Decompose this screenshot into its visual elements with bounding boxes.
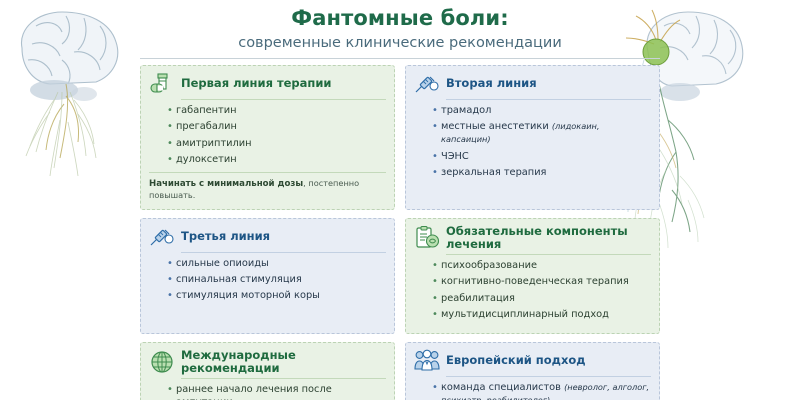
card-item-list: психообразованиекогнитивно-поведенческая… [432,260,651,322]
card-title: Европейский подход [446,354,586,367]
card-item-list: сильные опиоидыспинальная стимуляциястим… [167,258,386,304]
list-item-label: психообразование [441,260,537,271]
card-header: Первая линия терапии [149,72,386,99]
card-title: Международные рекомендации [181,349,386,375]
card-header: Европейский подход [414,349,651,376]
list-item-label: когнитивно-поведенческая терапия [441,276,629,287]
card-header: Международные рекомендации [149,349,386,378]
list-item: прегабалин [167,121,386,134]
list-item: сильные опиоиды [167,258,386,271]
list-item: когнитивно-поведенческая терапия [432,276,651,289]
list-item: реабилитация [432,293,651,306]
card-title: Обязательные компоненты лечения [446,225,651,251]
globe-icon [149,350,175,374]
list-item: габапентин [167,105,386,118]
list-item-label: трамадол [441,105,491,116]
list-item-label: прегабалин [176,121,237,132]
card-first-line-therapy: Первая линия терапиигабапентинпрегабалин… [140,65,395,210]
card-item-list: раннее начало лечения после ампутацииком… [167,384,386,400]
list-item-label: дулоксетин [176,154,237,165]
card-header: Вторая линия [414,72,651,99]
list-item-label: сильные опиоиды [176,258,269,269]
list-item: трамадол [432,105,651,118]
card-header: Обязательные компоненты лечения [414,225,651,254]
card-item-list: трамадолместные анестетики (лидокаин, ка… [432,105,651,180]
card-third-line: Третья линиясильные опиоидыспинальная ст… [140,218,395,334]
card-item-list: команда специалистов (невролог, алголог,… [432,382,651,400]
card-item-list: габапентинпрегабалинамитриптилиндулоксет… [167,105,386,167]
list-item-label: спинальная стимуляция [176,274,302,285]
list-item: спинальная стимуляция [167,274,386,287]
clipboard-brain-icon [414,226,440,250]
list-item: психообразование [432,260,651,273]
card-title-divider [181,378,386,379]
list-item-label: реабилитация [441,293,515,304]
list-item: местные анестетики (лидокаин, капсаицин) [432,121,651,147]
page-title: Фантомные боли: [0,7,800,31]
list-item-label: габапентин [176,105,237,116]
card-european-approach: Европейский подходкоманда специалистов (… [405,342,660,400]
card-footnote-emphasis: Начинать с минимальной дозы [149,179,303,189]
list-item-label: ЧЭНС [441,151,469,162]
card-mandatory-treatment-components: Обязательные компоненты леченияпсихообра… [405,218,660,334]
card-title: Третья линия [181,230,270,243]
recommendation-card-grid: Первая линия терапиигабапентинпрегабалин… [140,65,660,400]
card-title-divider [446,376,651,377]
card-footnote: Начинать с минимальной дозы, постепенно … [149,172,386,201]
card-title-divider [181,99,386,100]
card-title: Первая линия терапии [181,77,331,90]
list-item: амитриптилин [167,138,386,151]
syringe-icon [414,72,440,96]
list-item-label: раннее начало лечения после ампутации [176,384,332,400]
list-item: команда специалистов (невролог, алголог,… [432,382,651,400]
list-item-label: стимуляция моторной коры [176,290,320,301]
list-item: стимуляция моторной коры [167,290,386,303]
list-item: раннее начало лечения после ампутации [167,384,386,400]
list-item-label: зеркальная терапия [441,167,546,178]
page-subtitle: современные клинические рекомендации [0,35,800,52]
list-item-label: мультидисциплинарный подход [441,309,609,320]
list-item-label: команда специалистов [441,382,564,393]
list-item: ЧЭНС [432,151,651,164]
medication-bottles-icon [149,72,175,96]
card-international-recommendations: Международные рекомендациираннее начало … [140,342,395,400]
card-title-divider [181,252,386,253]
list-item: дулоксетин [167,154,386,167]
syringe-icon [149,225,175,249]
card-second-line: Вторая линиятрамадолместные анестетики (… [405,65,660,210]
page-header: Фантомные боли: современные клинические … [0,0,800,59]
list-item: мультидисциплинарный подход [432,309,651,322]
team-of-people-icon [414,349,440,373]
card-title-divider [446,99,651,100]
list-item-label: местные анестетики [441,121,552,132]
card-title: Вторая линия [446,77,537,90]
list-item: зеркальная терапия [432,167,651,180]
header-divider [140,58,660,59]
card-header: Третья линия [149,225,386,252]
card-title-divider [446,254,651,255]
list-item-label: амитриптилин [176,138,252,149]
